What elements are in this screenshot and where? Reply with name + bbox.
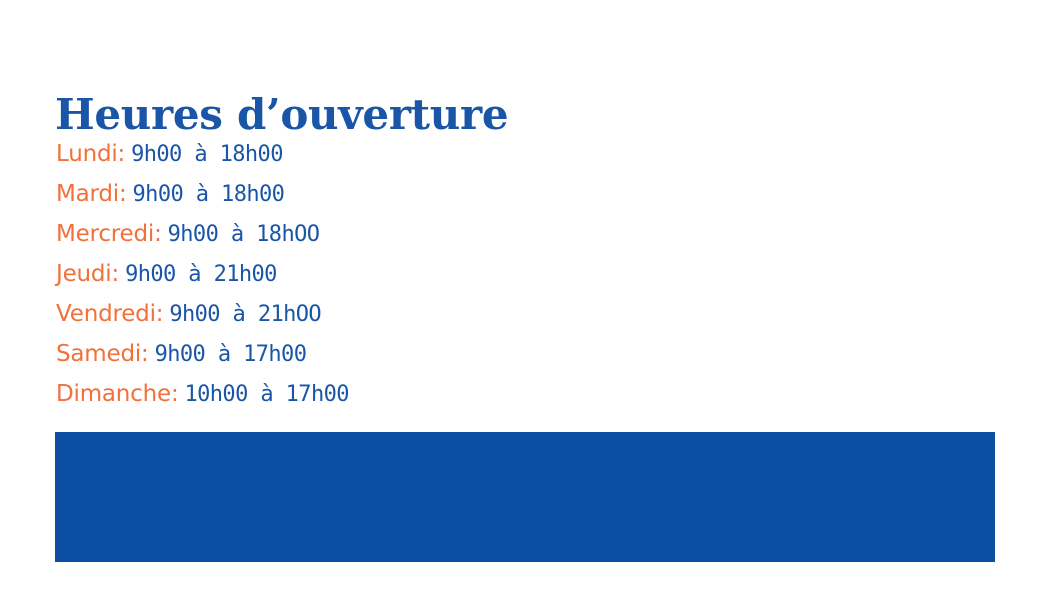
day-label: Mardi: — [56, 181, 127, 207]
time-value: 9h00 à 17h00 — [155, 342, 307, 367]
time-value: 9h00 à 21hOO — [169, 302, 321, 327]
list-item: Samedi:9h00 à 17h00 — [56, 333, 349, 373]
day-label: Jeudi: — [56, 261, 119, 287]
day-label: Vendredi: — [56, 301, 163, 327]
day-label: Lundi: — [56, 141, 125, 167]
day-label: Samedi: — [56, 341, 149, 367]
time-value: 10h00 à 17h00 — [185, 382, 349, 407]
list-item: Mercredi:9h00 à 18hOO — [56, 213, 349, 253]
list-item: Mardi:9h00 à 18h00 — [56, 173, 349, 213]
time-value: 9h00 à 18h00 — [133, 182, 285, 207]
opening-hours-list: Lundi:9h00 à 18h00 Mardi:9h00 à 18h00 Me… — [56, 133, 349, 413]
day-label: Mercredi: — [56, 221, 162, 247]
slide-canvas: Heures d’ouverture Lundi:9h00 à 18h00 Ma… — [0, 0, 1050, 600]
day-label: Dimanche: — [56, 381, 179, 407]
time-value: 9h00 à 18hOO — [168, 222, 320, 247]
time-value: 9h00 à 21h00 — [125, 262, 277, 287]
time-value: 9h00 à 18h00 — [131, 142, 283, 167]
page-title: Heures d’ouverture — [55, 91, 508, 139]
list-item: Dimanche:10h00 à 17h00 — [56, 373, 349, 413]
list-item: Vendredi:9h00 à 21hOO — [56, 293, 349, 333]
list-item: Lundi:9h00 à 18h00 — [56, 133, 349, 173]
footer-banner — [55, 432, 995, 562]
list-item: Jeudi:9h00 à 21h00 — [56, 253, 349, 293]
